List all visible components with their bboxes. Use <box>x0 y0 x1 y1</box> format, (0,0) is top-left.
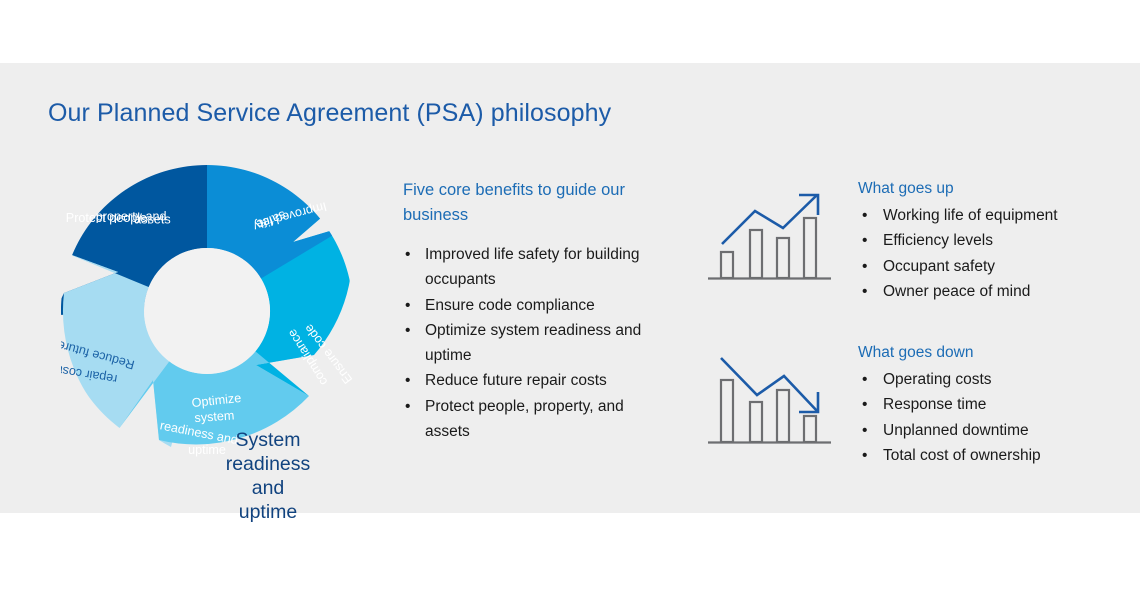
page-title: Our Planned Service Agreement (PSA) phil… <box>48 99 611 128</box>
bullet-icon: • <box>405 293 410 318</box>
list-item: • Reduce future repair costs <box>403 368 658 393</box>
benefits-item-label: Optimize system readiness and uptime <box>425 322 641 364</box>
what-goes-down-text: What goes down • Operating costs • Respo… <box>858 342 1118 468</box>
list-item: • Operating costs <box>858 367 1118 392</box>
what-goes-up-text: What goes up • Working life of equipment… <box>858 178 1118 304</box>
bullet-icon: • <box>405 394 410 419</box>
what-goes-down-item-label: Unplanned downtime <box>883 422 1029 439</box>
benefits-list: • Improved life safety for building occu… <box>403 242 658 444</box>
what-goes-up-list: • Working life of equipment • Efficiency… <box>858 203 1118 304</box>
what-goes-up-item-label: Working life of equipment <box>883 207 1058 224</box>
donut-label-optimize-line2: system <box>194 408 235 425</box>
list-item: • Owner peace of mind <box>858 279 1118 304</box>
bullet-icon: • <box>405 242 410 267</box>
bullet-icon: • <box>862 443 867 468</box>
list-item: • Protect people, property, and assets <box>403 394 658 445</box>
benefits-item-label: Reduce future repair costs <box>425 372 607 389</box>
donut-svg: Protect people, property and assets Impr… <box>61 165 353 457</box>
list-item: • Occupant safety <box>858 254 1118 279</box>
bullet-icon: • <box>405 318 410 343</box>
bar-chart-up-arrow-icon <box>700 186 838 286</box>
benefits-item-label: Protect people, property, and assets <box>425 398 624 440</box>
list-item: • Ensure code compliance <box>403 293 658 318</box>
list-item: • Improved life safety for building occu… <box>403 242 658 293</box>
list-item: • Response time <box>858 392 1118 417</box>
list-item: • Unplanned downtime <box>858 418 1118 443</box>
what-goes-down-list: • Operating costs • Response time • Unpl… <box>858 367 1118 468</box>
benefits-heading: Five core benefits to guide our business <box>403 178 658 228</box>
what-goes-down-heading: What goes down <box>858 342 1118 364</box>
list-item: • Working life of equipment <box>858 203 1118 228</box>
donut-label-optimize-line4: uptime <box>188 443 226 457</box>
bullet-icon: • <box>862 392 867 417</box>
psa-cycle-donut-chart: Protect people, property and assets Impr… <box>61 165 353 457</box>
benefits-item-label: Ensure code compliance <box>425 297 595 314</box>
bar-chart-down-arrow-icon <box>700 350 838 450</box>
bullet-icon: • <box>405 368 410 393</box>
list-item: • Total cost of ownership <box>858 443 1118 468</box>
what-goes-up-item-label: Efficiency levels <box>883 232 993 249</box>
slide-canvas: Our Planned Service Agreement (PSA) phil… <box>0 0 1140 600</box>
bullet-icon: • <box>862 279 867 304</box>
what-goes-up-item-label: Owner peace of mind <box>883 283 1030 300</box>
benefits-item-label: Improved life safety for building occupa… <box>425 246 640 288</box>
bullet-icon: • <box>862 367 867 392</box>
what-goes-down-item-label: Total cost of ownership <box>883 447 1041 464</box>
what-goes-down-item-label: Operating costs <box>883 371 992 388</box>
what-goes-up-item-label: Occupant safety <box>883 258 995 275</box>
donut-center-disc <box>144 248 270 374</box>
bullet-icon: • <box>862 418 867 443</box>
donut-label-protect-people-line3: assets <box>134 213 170 227</box>
five-core-benefits-block: Five core benefits to guide our business… <box>403 178 658 444</box>
bullet-icon: • <box>862 203 867 228</box>
what-goes-up-heading: What goes up <box>858 178 1118 200</box>
bullet-icon: • <box>862 228 867 253</box>
list-item: • Optimize system readiness and uptime <box>403 318 658 369</box>
list-item: • Efficiency levels <box>858 228 1118 253</box>
bullet-icon: • <box>862 254 867 279</box>
what-goes-down-item-label: Response time <box>883 396 986 413</box>
